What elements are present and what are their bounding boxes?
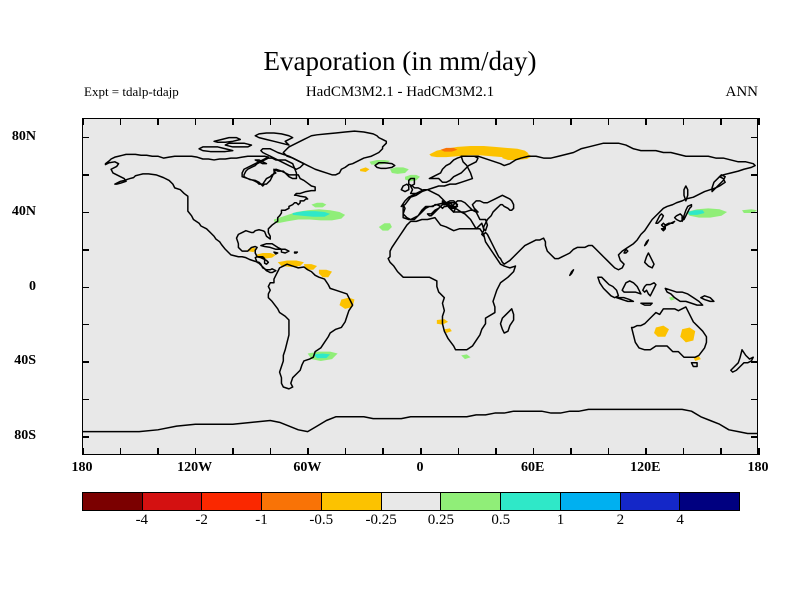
y-minor-tick [82, 324, 89, 326]
x-tick-mark [157, 118, 159, 125]
coastline-38 [632, 307, 707, 357]
x-tick-mark [307, 118, 309, 125]
y-minor-tick [751, 249, 758, 251]
x-tick-mark [608, 118, 610, 125]
x-tick-mark [232, 118, 234, 125]
coastline-7 [214, 138, 240, 143]
colorbar-tick-6: 0.5 [491, 512, 510, 529]
y-tick-mark [82, 137, 89, 139]
season-label: ANN [726, 84, 759, 101]
coastline-41 [701, 296, 714, 302]
coastline-35 [643, 283, 656, 296]
x-tick-mark [570, 118, 572, 125]
colorbar-segment-9[interactable] [621, 493, 681, 510]
data-region-azores-green [379, 223, 392, 230]
colorbar-tick-0: -4 [136, 512, 149, 529]
x-tick-mark [345, 448, 347, 455]
x-tick-mark [720, 448, 722, 455]
data-region-norwegian-green [390, 167, 409, 174]
y-minor-tick [751, 174, 758, 176]
x-tick-label-2: 60W [293, 460, 321, 476]
data-region-agulhas-green [461, 354, 470, 359]
x-tick-mark [645, 118, 647, 125]
coastline-14 [388, 218, 515, 350]
y-tick-mark [751, 212, 758, 214]
y-tick-label-2: 0 [0, 279, 36, 295]
x-tick-mark [82, 118, 84, 125]
x-tick-mark [683, 118, 685, 125]
map-plot-area [82, 118, 758, 455]
x-tick-label-0: 180 [72, 460, 93, 476]
x-tick-mark [270, 118, 272, 125]
coastline-32 [622, 281, 641, 294]
x-tick-mark [720, 118, 722, 125]
colorbar-tick-8: 2 [617, 512, 625, 529]
coastline-36 [665, 288, 702, 305]
coastline-6 [225, 143, 251, 147]
coastline-11 [295, 252, 298, 253]
coastline-28 [645, 240, 649, 246]
x-tick-mark [232, 448, 234, 455]
coastline-31 [598, 277, 619, 297]
data-region-neatlantic-dot [360, 167, 369, 172]
y-tick-mark [82, 361, 89, 363]
x-tick-mark [458, 118, 460, 125]
y-tick-mark [751, 137, 758, 139]
coastline-4 [199, 147, 233, 152]
colorbar-tick-2: -1 [255, 512, 268, 529]
coastline-9 [281, 249, 288, 253]
colorbar-tick-4: -0.25 [365, 512, 396, 529]
y-tick-mark [82, 212, 89, 214]
x-tick-label-6: 180 [748, 460, 769, 476]
coastline-42 [83, 409, 757, 433]
x-tick-label-4: 60E [521, 460, 544, 476]
coastline-13 [268, 264, 352, 389]
coastline-34 [641, 303, 652, 305]
x-tick-mark [382, 118, 384, 125]
colorbar-segment-4[interactable] [322, 493, 382, 510]
world-map [83, 119, 757, 454]
x-tick-mark [533, 448, 535, 455]
x-tick-mark [382, 448, 384, 455]
x-tick-mark [270, 448, 272, 455]
x-tick-mark [645, 448, 647, 455]
y-tick-mark [751, 287, 758, 289]
x-tick-label-1: 120W [177, 460, 212, 476]
x-tick-mark [758, 448, 760, 455]
data-region-australia-amber2 [680, 327, 695, 342]
x-tick-label-5: 120E [630, 460, 660, 476]
colorbar-tick-7: 1 [557, 512, 565, 529]
coastline-0 [105, 154, 315, 272]
y-tick-label-0: 80N [0, 129, 36, 145]
coastline-3 [255, 133, 292, 145]
y-tick-mark [751, 361, 758, 363]
page-title: Evaporation (in mm/day) [0, 46, 800, 77]
coastline-8 [261, 244, 282, 250]
colorbar-segment-8[interactable] [561, 493, 621, 510]
coastline-40 [731, 350, 753, 372]
y-tick-label-1: 40N [0, 204, 36, 220]
colorbar-segment-6[interactable] [441, 493, 501, 510]
colorbar-segment-10[interactable] [680, 493, 739, 510]
x-tick-mark [533, 118, 535, 125]
colorbar-segment-7[interactable] [501, 493, 561, 510]
x-tick-mark [758, 118, 760, 125]
y-minor-tick [82, 174, 89, 176]
x-tick-mark [307, 448, 309, 455]
colorbar-segment-1[interactable] [143, 493, 203, 510]
x-tick-mark [420, 118, 422, 125]
coastline-20 [401, 184, 408, 191]
data-region-labrador-green [311, 203, 326, 208]
x-tick-mark [458, 448, 460, 455]
coastline-39 [691, 363, 697, 367]
coastline-layer [83, 131, 757, 433]
colorbar-tick-1: -2 [195, 512, 208, 529]
data-region-guyana-amber [319, 270, 332, 277]
colorbar-segment-2[interactable] [202, 493, 262, 510]
y-minor-tick [82, 249, 89, 251]
x-tick-mark [195, 118, 197, 125]
y-minor-tick [751, 324, 758, 326]
colorbar[interactable] [82, 492, 740, 511]
x-tick-mark [157, 448, 159, 455]
x-tick-mark [120, 448, 122, 455]
data-region-australia-amber1 [654, 326, 669, 337]
coastline-25 [684, 186, 688, 201]
y-minor-tick [751, 399, 758, 401]
x-tick-mark [683, 448, 685, 455]
x-tick-mark [495, 118, 497, 125]
y-minor-tick [82, 399, 89, 401]
x-tick-mark [570, 448, 572, 455]
colorbar-segment-5[interactable] [382, 493, 442, 510]
figure-canvas: Evaporation (in mm/day) HadCM3M2.1 - Had… [0, 0, 800, 600]
colorbar-tick-5: 0.25 [428, 512, 454, 529]
coastline-15 [501, 309, 514, 333]
x-tick-mark [420, 448, 422, 455]
coastline-10 [274, 252, 278, 254]
experiment-label: Expt = tdalp-tdajp [84, 84, 179, 100]
y-tick-mark [751, 436, 758, 438]
x-tick-mark [345, 118, 347, 125]
colorbar-tick-9: 4 [676, 512, 684, 529]
y-tick-label-3: 40S [0, 353, 36, 369]
x-tick-mark [82, 448, 84, 455]
colorbar-segment-3[interactable] [262, 493, 322, 510]
coastline-33 [617, 298, 634, 302]
x-tick-label-3: 0 [417, 460, 424, 476]
y-tick-mark [82, 436, 89, 438]
coastline-23 [662, 221, 675, 227]
coastline-30 [570, 270, 574, 276]
x-tick-mark [495, 448, 497, 455]
colorbar-tick-3: -0.5 [309, 512, 333, 529]
x-tick-mark [608, 448, 610, 455]
y-tick-mark [82, 287, 89, 289]
coastline-37 [645, 253, 654, 268]
x-tick-mark [120, 118, 122, 125]
y-tick-label-4: 80S [0, 428, 36, 444]
x-tick-mark [195, 448, 197, 455]
colorbar-segment-0[interactable] [83, 493, 143, 510]
